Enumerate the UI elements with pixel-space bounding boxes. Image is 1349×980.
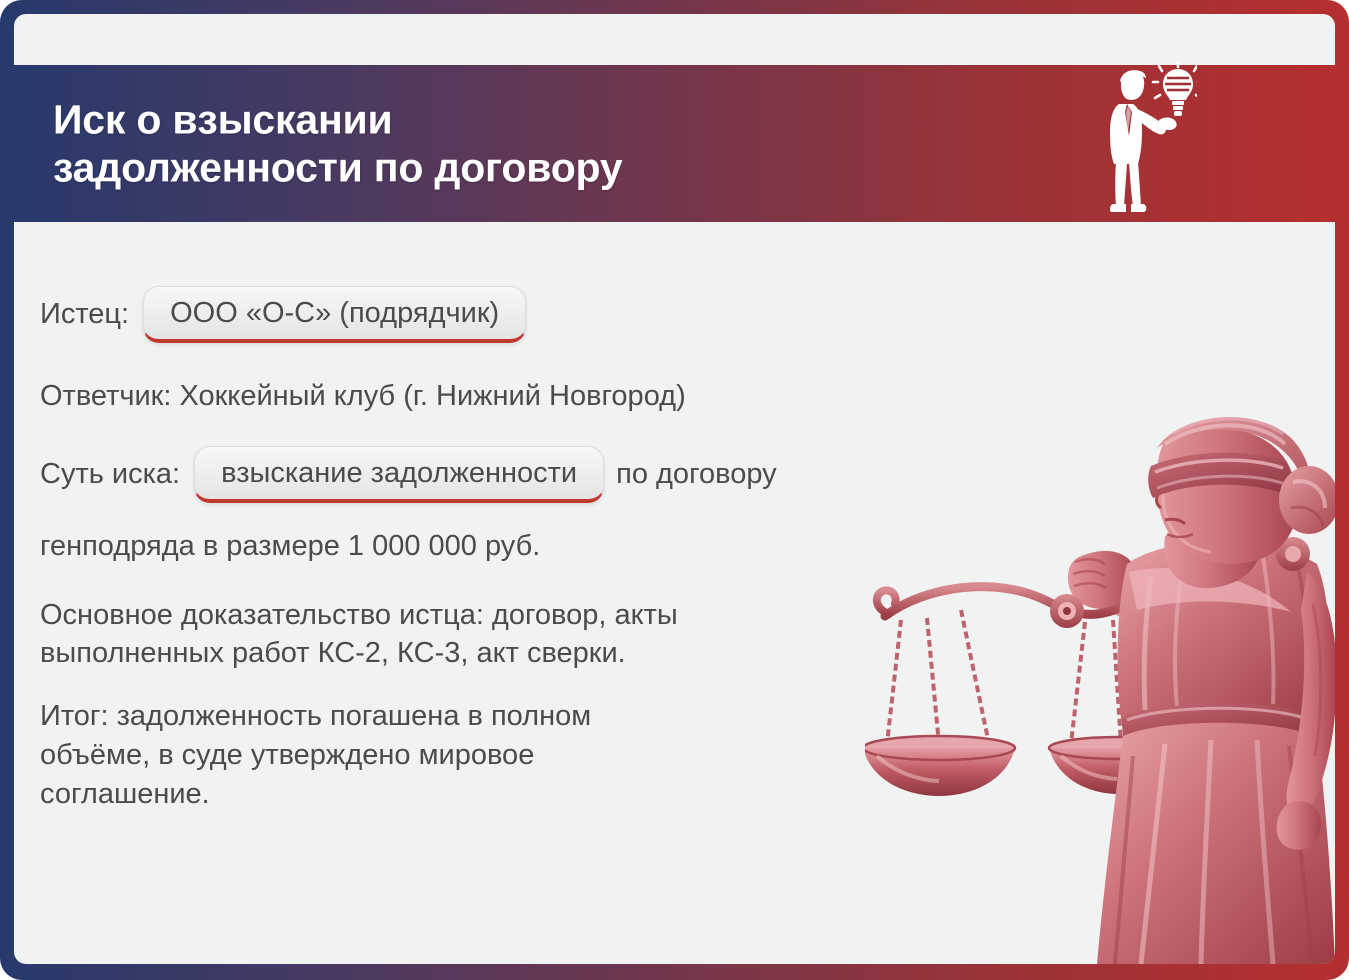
- plaintiff-row: Истец: ООО «О-С» (подрядчик): [40, 286, 1335, 343]
- header-band: Иск о взыскании задолженности по договор…: [14, 65, 1335, 222]
- businessman-with-lightbulb-icon: [1097, 62, 1197, 222]
- claim-continuation: генподряда в размере 1 000 000 руб.: [40, 527, 920, 566]
- claim-label: Суть иска:: [40, 455, 180, 494]
- body-content: Истец: ООО «О-С» (подрядчик) Ответчик: Х…: [14, 222, 1335, 814]
- plaintiff-chip[interactable]: ООО «О-С» (подрядчик): [143, 286, 526, 343]
- sword-shape: [1238, 793, 1315, 964]
- claim-row: Суть иска: взыскание задолженности по до…: [40, 446, 1335, 503]
- defendant-text: Ответчик: Хоккейный клуб (г. Нижний Новг…: [40, 377, 920, 416]
- evidence-text: Основное доказательство истца: договор, …: [40, 596, 920, 674]
- card-frame: Иск о взыскании задолженности по договор…: [0, 0, 1349, 980]
- outcome-text: Итог: задолженность погашена в полном об…: [40, 697, 920, 814]
- claim-suffix: по договору: [616, 455, 777, 494]
- card-inner: Иск о взыскании задолженности по договор…: [14, 14, 1335, 964]
- claim-chip[interactable]: взыскание задолженности: [194, 446, 604, 503]
- page-title: Иск о взыскании задолженности по договор…: [53, 95, 622, 192]
- plaintiff-label: Истец:: [40, 295, 129, 334]
